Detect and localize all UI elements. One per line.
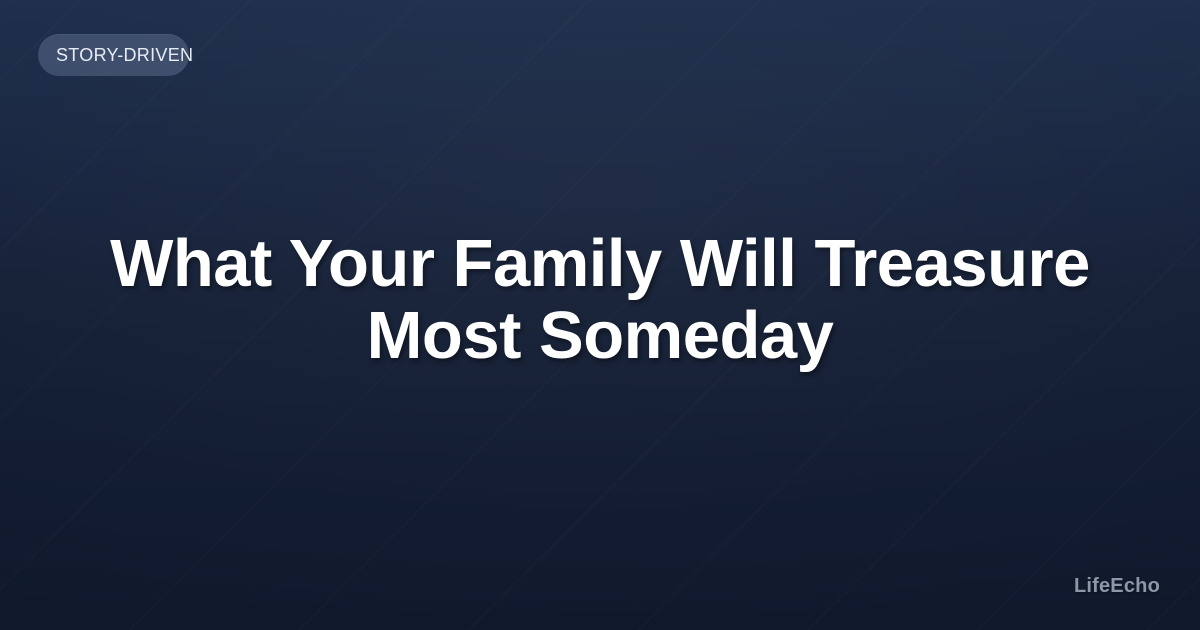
headline-text: What Your Family Will Treasure Most Some…	[60, 228, 1140, 372]
headline-line-2: Someday	[539, 298, 833, 373]
category-badge-label: STORY-DRIVEN	[56, 34, 193, 76]
brand-wordmark: LifeEcho	[1074, 575, 1160, 598]
social-share-card: STORY-DRIVEN What Your Family Will Treas…	[0, 0, 1200, 630]
